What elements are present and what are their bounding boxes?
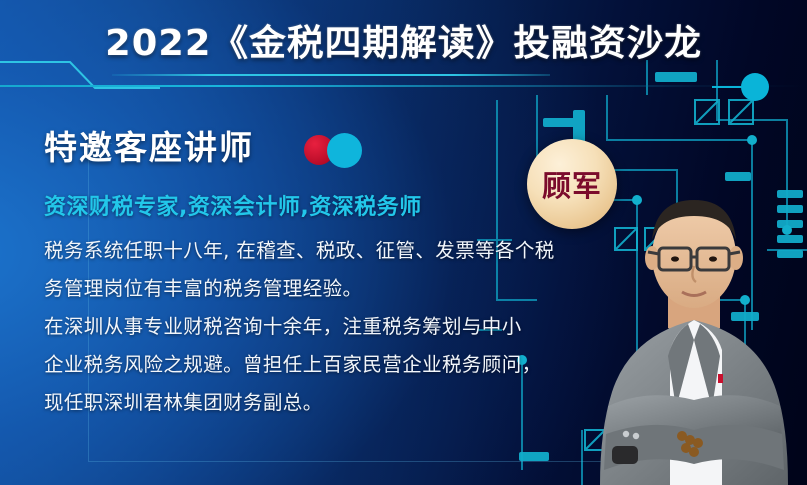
poster-title-wrap: 2022《金税四期解读》投融资沙龙 [0,14,807,66]
bio-line: 税务系统任职十八年, 在稽查、税政、征管、发票等各个税 [44,232,589,270]
cyan-circle-icon [327,133,362,168]
bio-line: 企业税务风险之规避。曾担任上百家民营企业税务顾问， [44,346,589,384]
bio-line: 现任职深圳君林集团财务副总。 [44,384,589,422]
title-rule-upper [112,74,550,76]
speaker-bio: 税务系统任职十八年, 在稽查、税政、征管、发票等各个税 务管理岗位有丰富的税务管… [44,232,589,422]
page-title: 2022《金税四期解读》投融资沙龙 [105,14,702,66]
section-headline: 特邀客座讲师 [44,121,254,169]
cyan-accent-dot-icon [741,73,769,101]
promo-poster: 2022《金税四期解读》投融资沙龙 特邀客座讲师 资深财税专家,资深会计师,资深… [0,0,807,485]
bio-line: 务管理岗位有丰富的税务管理经验。 [44,270,589,308]
bio-line: 在深圳从事专业财税咨询十余年，注重税务筹划与中小 [44,308,589,346]
speaker-credentials: 资深财税专家,资深会计师,资深税务师 [44,189,422,221]
speaker-portrait-photo [590,178,807,485]
title-rule-full [0,85,807,87]
accent-dot-stem [712,86,742,88]
